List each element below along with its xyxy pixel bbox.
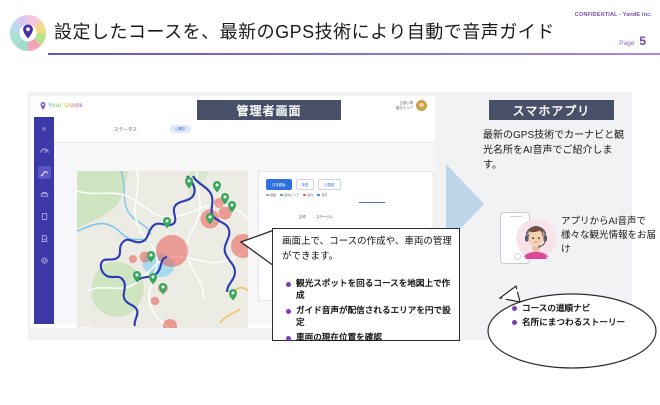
table-row: 名称 ステージ1 [266, 210, 428, 226]
slide-root: 設定したコースを、最新のGPS技術により自動で音声ガイド CONFIDENTIA… [0, 0, 660, 405]
sidebar-item-dashboard[interactable] [38, 144, 51, 157]
list-item: コースの道順ナビ [512, 303, 652, 314]
sidebar-item-expand[interactable]: » [38, 122, 51, 135]
bullet-dot-icon [286, 309, 291, 314]
list-item: 観光スポットを回るコースを地図上で作成 [286, 278, 454, 301]
location-pin-icon [40, 102, 46, 110]
language-tabs: 日本語版 英語 中国語 [266, 179, 341, 190]
admin-brand-label: Your Guide [48, 103, 83, 109]
bullet-dot-icon [512, 320, 517, 325]
page-title: 設定したコースを、最新のGPS技術により自動で音声ガイド [54, 18, 555, 44]
avatar[interactable] [416, 100, 427, 111]
admin-brand: Your Guide [40, 102, 83, 110]
map-legend: 経路 配信エリア 案内 音声 [266, 193, 327, 197]
admin-user-area[interactable]: 正直小樽 観光エリア [396, 100, 427, 111]
bullet-text: ガイド音声が配信されるエリアを円で設定 [296, 305, 454, 328]
status-bar: ステータス 公開中 [54, 117, 435, 143]
app-description: 最新のGPS技術でカーナビと観光名所をAI音声でご紹介します。 [483, 128, 629, 173]
legend-label-voice: 音声 [321, 193, 327, 197]
bullet-dot-icon [512, 306, 517, 311]
banner-admin-screen: 管理者画面 [197, 100, 341, 120]
detail-value-name: ステージ1 [316, 215, 332, 220]
detail-key-name: 名称 [266, 215, 306, 220]
ai-voice-guide-avatar-icon [516, 219, 556, 259]
admin-user-line1: 正直小樽 [396, 101, 413, 105]
guide-pin-ring-logo-icon [8, 13, 48, 53]
sidebar-item-route[interactable] [38, 166, 51, 179]
confidential-notice: CONFIDENTIAL - YandE inc. [575, 12, 652, 18]
route-map[interactable]: 500 m © Mapbox © OpenStreetMap [77, 171, 248, 328]
legend-item-route: 経路 [266, 193, 276, 197]
sidebar-item-vehicle[interactable] [38, 188, 51, 201]
admin-sidebar: » [34, 117, 54, 324]
list-item: 名所にまつわるストーリー [512, 317, 652, 328]
legend-label-route: 経路 [270, 193, 276, 197]
slide-header: 設定したコースを、最新のGPS技術により自動で音声ガイド CONFIDENTIA… [0, 0, 660, 56]
legend-item-voice: 音声 [317, 193, 327, 197]
page-number: 5 [639, 36, 646, 47]
map-scale-label: 500 m [81, 327, 92, 328]
sidebar-item-documents[interactable] [38, 210, 51, 223]
callout-admin-headline: 画面上で、コースの作成や、車両の管理ができます。 [282, 234, 454, 264]
legend-item-guide: 案内 [303, 193, 313, 197]
status-label: ステータス [114, 127, 137, 133]
callout-admin-bullets: 観光スポットを回るコースを地図上で作成 ガイド音声が配信されるエリアを円で設定 … [286, 278, 454, 348]
page-label: Page [619, 40, 634, 47]
admin-user-line2: 観光エリア [396, 106, 413, 110]
bullet-dot-icon [286, 336, 291, 341]
sidebar-item-settings[interactable] [38, 254, 51, 267]
page-indicator: Page 5 [619, 36, 646, 47]
bullet-text: 名所にまつわるストーリー [522, 317, 625, 328]
tab-english[interactable]: 英語 [296, 179, 315, 190]
list-item: 車両の現在位置を確認 [286, 332, 454, 344]
callout-app-bullets: コースの道順ナビ 名所にまつわるストーリー [512, 303, 652, 331]
banner-smartphone-app: スマホアプリ [489, 100, 614, 120]
callout-admin-tail [240, 228, 274, 268]
tab-japanese[interactable]: 日本語版 [266, 179, 292, 190]
sidebar-item-reports[interactable] [38, 232, 51, 245]
app-bubble-text: アプリからAI音声で様々な観光情報をお届け [561, 215, 657, 257]
legend-label-zone: 配信エリア [284, 193, 299, 197]
bullet-dot-icon [286, 282, 291, 287]
status-badge[interactable]: 公開中 [170, 125, 191, 133]
bullet-text: 車両の現在位置を確認 [296, 332, 382, 344]
tab-chinese[interactable]: 中国語 [318, 179, 340, 190]
bullet-text: コースの道順ナビ [522, 303, 590, 314]
bullet-text: 観光スポットを回るコースを地図上で作成 [296, 278, 454, 301]
admin-user-text: 正直小樽 観光エリア [396, 101, 413, 110]
list-item: ガイド音声が配信されるエリアを円で設定 [286, 305, 454, 328]
legend-active-underline [359, 202, 385, 203]
legend-label-guide: 案内 [307, 193, 313, 197]
legend-item-zone: 配信エリア [280, 193, 299, 197]
header-divider [48, 53, 660, 55]
